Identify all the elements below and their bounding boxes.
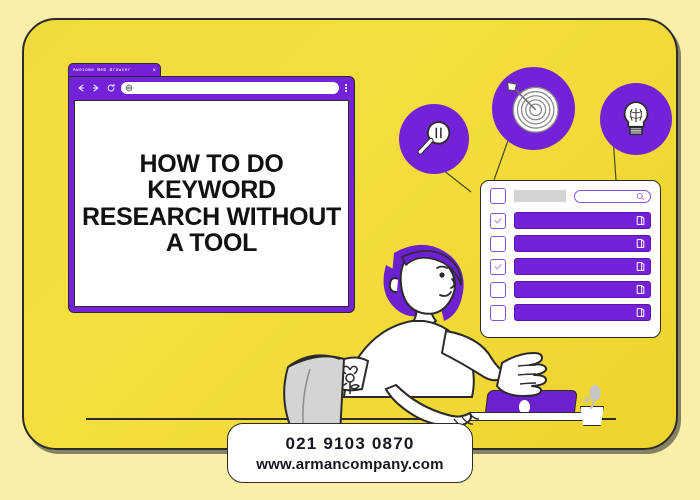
edit-document-icon[interactable] — [635, 307, 646, 318]
idea-bubble[interactable] — [600, 83, 672, 155]
browser-tab[interactable]: Awesome Web Browser × — [68, 63, 161, 77]
arrow-right-icon[interactable] — [91, 83, 101, 93]
edit-document-icon[interactable] — [635, 261, 646, 272]
poster-panel: Awesome Web Browser × — [22, 18, 678, 450]
target-dart-icon — [505, 80, 563, 138]
blocked-circle-icon — [125, 84, 133, 92]
website-url: www.armancompany.com — [256, 456, 443, 473]
magnifier-bubble[interactable] — [399, 104, 469, 174]
lightbulb-brain-icon — [613, 96, 659, 142]
search-input[interactable] — [574, 190, 651, 203]
woman-presenter-illustration — [274, 235, 574, 435]
plant-leaves-icon — [580, 380, 606, 410]
close-icon[interactable]: × — [152, 68, 156, 74]
edit-document-icon[interactable] — [635, 284, 646, 295]
list-title-placeholder — [514, 190, 566, 202]
search-icon — [636, 192, 645, 201]
list-header-row — [490, 188, 651, 204]
kebab-menu-icon[interactable] — [344, 84, 347, 92]
poster-canvas: Awesome Web Browser × — [0, 0, 700, 500]
browser-toolbar — [69, 77, 354, 99]
list-item[interactable] — [490, 212, 651, 229]
edit-document-icon[interactable] — [635, 238, 646, 249]
row-content — [514, 212, 651, 229]
reload-icon[interactable] — [106, 83, 116, 93]
magnifier-icon — [411, 116, 457, 162]
contact-banner: 021 9103 0870 www.armancompany.com — [227, 423, 473, 483]
target-bubble[interactable] — [492, 67, 575, 150]
select-all-checkbox[interactable] — [490, 188, 506, 204]
phone-number: 021 9103 0870 — [285, 434, 414, 454]
browser-tab-title: Awesome Web Browser — [73, 68, 149, 73]
row-checkbox[interactable] — [490, 213, 506, 229]
edit-document-icon[interactable] — [635, 215, 646, 226]
address-bar[interactable] — [121, 82, 339, 94]
check-icon — [493, 216, 503, 226]
arrow-left-icon[interactable] — [76, 83, 86, 93]
